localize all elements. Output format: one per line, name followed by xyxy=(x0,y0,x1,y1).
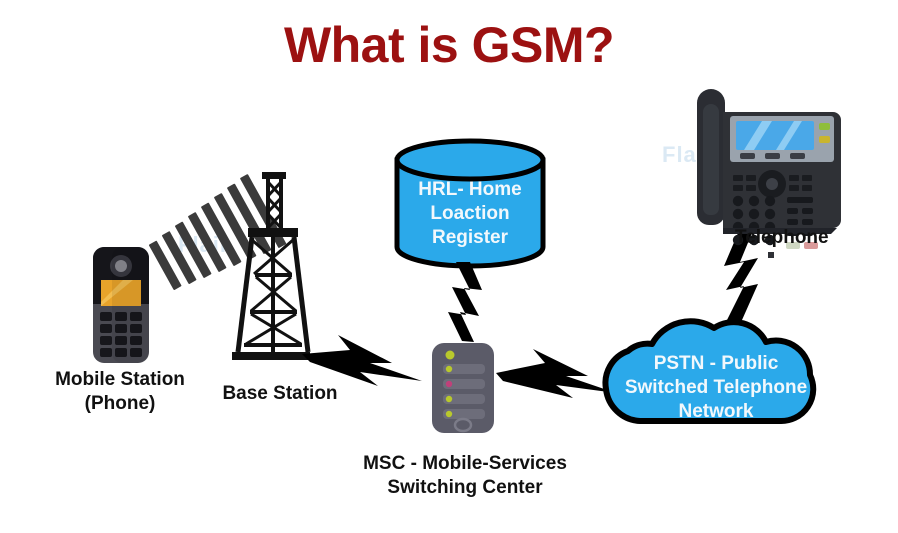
msc-label: MSC - Mobile-Services Switching Center xyxy=(330,452,600,501)
gsm-diagram-canvas: What is GSM? Flair Data Flair tower ====… xyxy=(0,0,898,533)
server-tower-icon xyxy=(432,343,494,433)
connector-base-station-to-msc xyxy=(302,335,422,386)
database-cylinder-icon xyxy=(397,141,543,266)
mobile-phone-icon xyxy=(93,247,149,363)
base-station-label: Base Station xyxy=(190,382,370,406)
connector-msc-to-pstn xyxy=(496,349,616,398)
telephone-label: Telephone xyxy=(735,226,895,250)
connector-hlr-to-msc xyxy=(448,262,482,342)
cloud-icon xyxy=(605,321,813,421)
